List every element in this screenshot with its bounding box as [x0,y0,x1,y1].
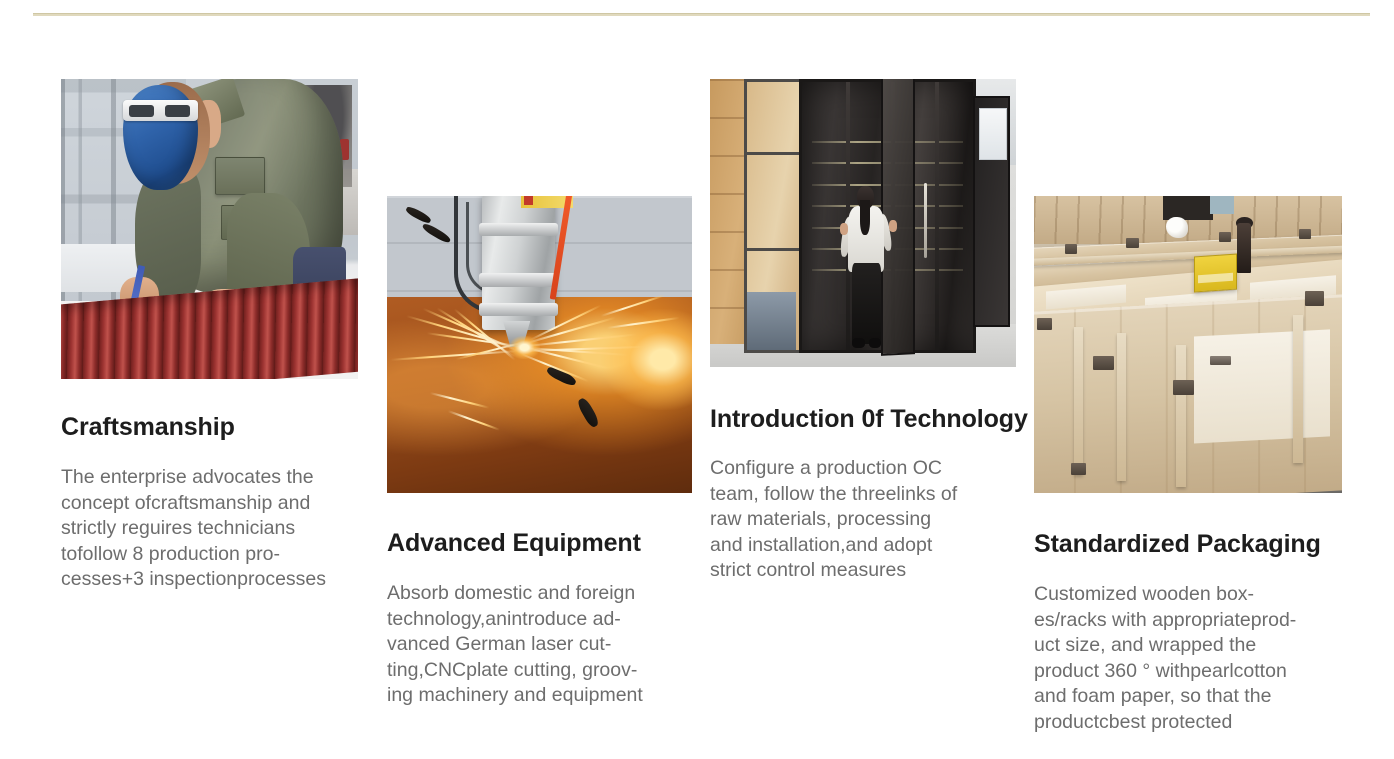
crate-vertical-batten [1074,327,1083,476]
door-mullion [935,82,939,350]
body-line: concept ofcraftsmanship and [61,491,371,517]
body-line: Absorb domestic and foreign [387,581,697,607]
person-shoe [852,338,864,348]
craftsmanship-photo [61,79,358,379]
metal-corner-bracket [1071,463,1086,475]
person-black-trousers [852,263,881,344]
body-line: tofollow 8 production pro- [61,542,371,568]
card-body-advanced-equipment: Absorb domestic and foreign technology,a… [387,581,697,709]
crate-vertical-batten [1293,315,1304,464]
person-right-hand [889,220,897,232]
card-body-craftsmanship: The enterprise advocates the concept ofc… [61,465,371,593]
crate-front-panel [1194,329,1330,443]
metal-corner-bracket [1173,380,1195,395]
body-line: Configure a production OC [710,456,1025,482]
plastic-bag [1166,217,1188,238]
crate-latch [1210,356,1232,365]
jacket-pocket-upper [215,157,265,195]
body-line: The enterprise advocates the [61,465,371,491]
card-title-standardized-packaging: Standardized Packaging [1034,530,1354,559]
feature-card-standardized-packaging: Standardized Packaging Customized wooden… [1034,196,1354,735]
feature-card-technology: Introduction 0f Technology Configure a p… [710,79,1025,584]
person-left-hand [840,223,848,235]
lower-storage-box [747,292,796,350]
yellow-tool-box [1194,254,1237,293]
crate-vertical-batten [1176,345,1187,488]
background-doorway [1163,196,1212,220]
advanced-equipment-photo [387,196,692,493]
body-line: vanced German laser cut- [387,632,697,658]
metal-corner-bracket [1093,356,1115,369]
wall-sign [979,108,1007,160]
body-line: raw materials, processing [710,507,1025,533]
feature-card-advanced-equipment: Advanced Equipment Absorb domestic and f… [387,196,697,709]
body-line: uct size, and wrapped the [1034,633,1354,659]
glasses-lens-left [129,105,154,117]
feature-card-craftsmanship: Craftsmanship The enterprise advocates t… [61,79,371,593]
body-line: and foam paper, so that the [1034,684,1354,710]
technology-photo [710,79,1016,367]
top-divider-rule [33,13,1370,16]
body-line: strictly reguires technicians [61,516,371,542]
spark-glow [601,309,693,410]
door-handle [924,183,927,258]
body-line: ing machinery and equipment [387,683,697,709]
metal-corner-bracket [1065,244,1077,254]
machine-red-label [524,196,533,205]
cutting-head-ring [479,273,558,286]
standardized-packaging-photo [1034,196,1342,493]
body-line: team, follow the threelinks of [710,482,1025,508]
metal-corner-bracket [1126,238,1138,248]
person-shoe [869,338,881,348]
body-line: productcbest protected [1034,710,1354,736]
metal-corner-bracket [1037,318,1052,330]
card-body-technology: Configure a production OC team, follow t… [710,456,1025,584]
cutting-head-ring [479,303,558,316]
glasses-lens-right [165,105,190,117]
body-line: Customized wooden box- [1034,582,1354,608]
body-line: strict control measures [710,558,1025,584]
safety-glasses [123,100,197,121]
tool-box-label [1198,274,1233,284]
card-title-advanced-equipment: Advanced Equipment [387,529,697,558]
metal-corner-bracket [1305,291,1323,306]
power-drill [1237,223,1251,273]
card-body-standardized-packaging: Customized wooden box- es/racks with app… [1034,582,1354,735]
body-line: product 360 ° withpearlcotton [1034,659,1354,685]
metal-corner-bracket [1299,229,1311,239]
body-line: and installation,and adopt [710,533,1025,559]
body-line: cesses+3 inspectionprocesses [61,567,371,593]
card-title-craftsmanship: Craftsmanship [61,413,371,442]
card-title-technology: Introduction 0f Technology [710,405,1025,434]
body-line: es/racks with appropriateprod- [1034,608,1354,634]
body-line: technology,anintroduce ad- [387,607,697,633]
background-blue-panel [1210,196,1235,214]
body-line: ting,CNCplate cutting, groov- [387,658,697,684]
crate-vertical-batten [1117,333,1126,482]
person-ponytail [860,200,870,235]
cutting-head-ring [479,223,558,236]
metal-corner-bracket [1219,232,1231,242]
